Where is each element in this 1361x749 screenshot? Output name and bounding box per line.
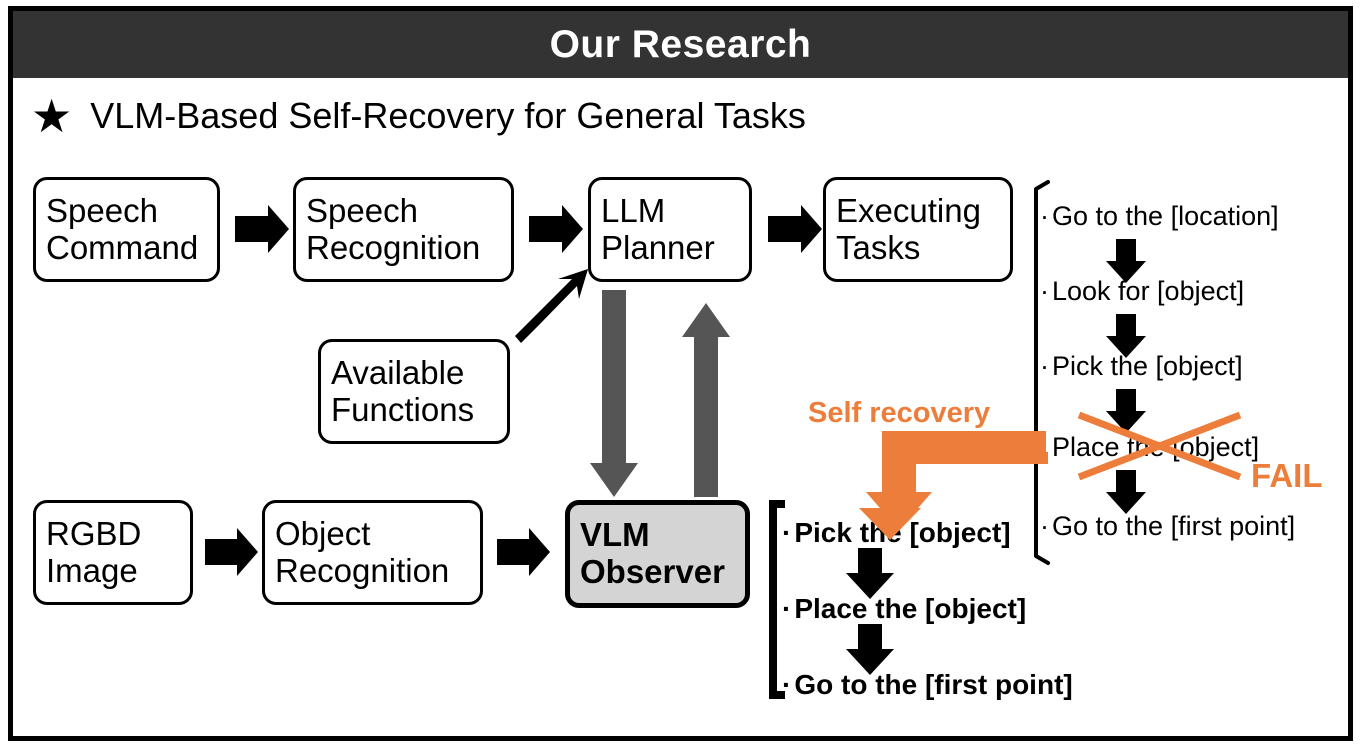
bullet-icon: · — [1040, 353, 1049, 380]
bullet-icon: · — [782, 671, 791, 699]
recovery-step-3-label: Go to the [first point] — [794, 669, 1072, 700]
box-line-2: Functions — [331, 392, 497, 429]
box-speech-command[interactable]: Speech Command — [33, 177, 220, 282]
box-executing-tasks[interactable]: Executing Tasks — [823, 177, 1013, 282]
box-line-1: VLM — [580, 517, 735, 554]
header-bar: Our Research — [13, 11, 1348, 78]
bullet-icon: · — [782, 519, 791, 547]
box-object-recognition[interactable]: Object Recognition — [262, 500, 483, 605]
bullet-icon: · — [1040, 513, 1049, 540]
box-line-1: Speech — [306, 193, 501, 230]
arrow-speech-command-to-recognition — [235, 205, 289, 253]
box-line-2: Recognition — [275, 553, 470, 590]
box-line-1: RGBD — [46, 516, 180, 553]
arrow-planner-to-executing — [768, 205, 822, 253]
recovery-step-2-label: Place the [object] — [794, 593, 1026, 624]
box-line-2: Planner — [601, 230, 739, 267]
original-step-3-label: Pick the [object] — [1052, 351, 1243, 381]
box-llm-planner[interactable]: LLM Planner — [588, 177, 752, 282]
subtitle-row: ★ VLM-Based Self-Recovery for General Ta… — [31, 93, 806, 139]
box-line-1: Executing — [836, 193, 1000, 230]
recovery-step-1: ·Pick the [object] — [782, 519, 1011, 547]
box-line-1: LLM — [601, 193, 739, 230]
box-line-1: Speech — [46, 193, 207, 230]
box-line-2: Recognition — [306, 230, 501, 267]
arrow-rgbd-to-object-recognition — [205, 528, 258, 576]
fail-label: FAIL — [1251, 459, 1323, 492]
self-recovery-arrow-body — [866, 431, 1046, 530]
arrow-planner-to-observer-gray — [590, 290, 638, 497]
box-vlm-observer[interactable]: VLM Observer — [565, 500, 750, 608]
original-step-4-failed: ·Place the [object] — [1040, 434, 1259, 461]
slide-root: Our Research ★ VLM-Based Self-Recovery f… — [0, 0, 1361, 749]
original-step-4-label: Place the [object] — [1052, 432, 1259, 462]
recovery-step-3: ·Go to the [first point] — [782, 671, 1073, 699]
subtitle-text: VLM-Based Self-Recovery for General Task… — [90, 98, 806, 134]
star-icon: ★ — [31, 93, 72, 139]
arrow-observer-to-planner-gray — [682, 303, 730, 497]
original-step-2-label: Look for [object] — [1052, 276, 1244, 306]
box-line-2: Observer — [580, 554, 735, 591]
arrow-functions-to-planner-diagonal — [515, 269, 588, 343]
arrow-object-recognition-to-vlm — [497, 528, 550, 576]
box-available-functions[interactable]: Available Functions — [318, 339, 510, 444]
original-step-1-label: Go to the [location] — [1052, 201, 1279, 231]
recovery-step-1-label: Pick the [object] — [794, 517, 1010, 548]
original-step-5: ·Go to the [first point] — [1040, 513, 1295, 540]
box-line-2: Command — [46, 230, 207, 267]
original-step-1: ·Go to the [location] — [1040, 203, 1279, 230]
box-line-2: Tasks — [836, 230, 1000, 267]
box-line-1: Available — [331, 355, 497, 392]
box-line-1: Object — [275, 516, 470, 553]
bullet-icon: · — [1040, 278, 1049, 305]
original-step-3: ·Pick the [object] — [1040, 353, 1243, 380]
bullet-icon: · — [1040, 434, 1049, 461]
recovery-step-2: ·Place the [object] — [782, 595, 1026, 623]
self-recovery-label: Self recovery — [808, 399, 990, 428]
slide-frame: Our Research ★ VLM-Based Self-Recovery f… — [8, 6, 1353, 741]
box-speech-recognition[interactable]: Speech Recognition — [293, 177, 514, 282]
original-step-5-label: Go to the [first point] — [1052, 511, 1295, 541]
bullet-icon: · — [1040, 203, 1049, 230]
box-rgbd-image[interactable]: RGBD Image — [33, 500, 193, 605]
page-title: Our Research — [550, 25, 812, 64]
bullet-icon: · — [782, 595, 791, 623]
arrow-recognition-to-planner — [529, 205, 583, 253]
box-line-2: Image — [46, 553, 180, 590]
original-step-2: ·Look for [object] — [1040, 278, 1244, 305]
